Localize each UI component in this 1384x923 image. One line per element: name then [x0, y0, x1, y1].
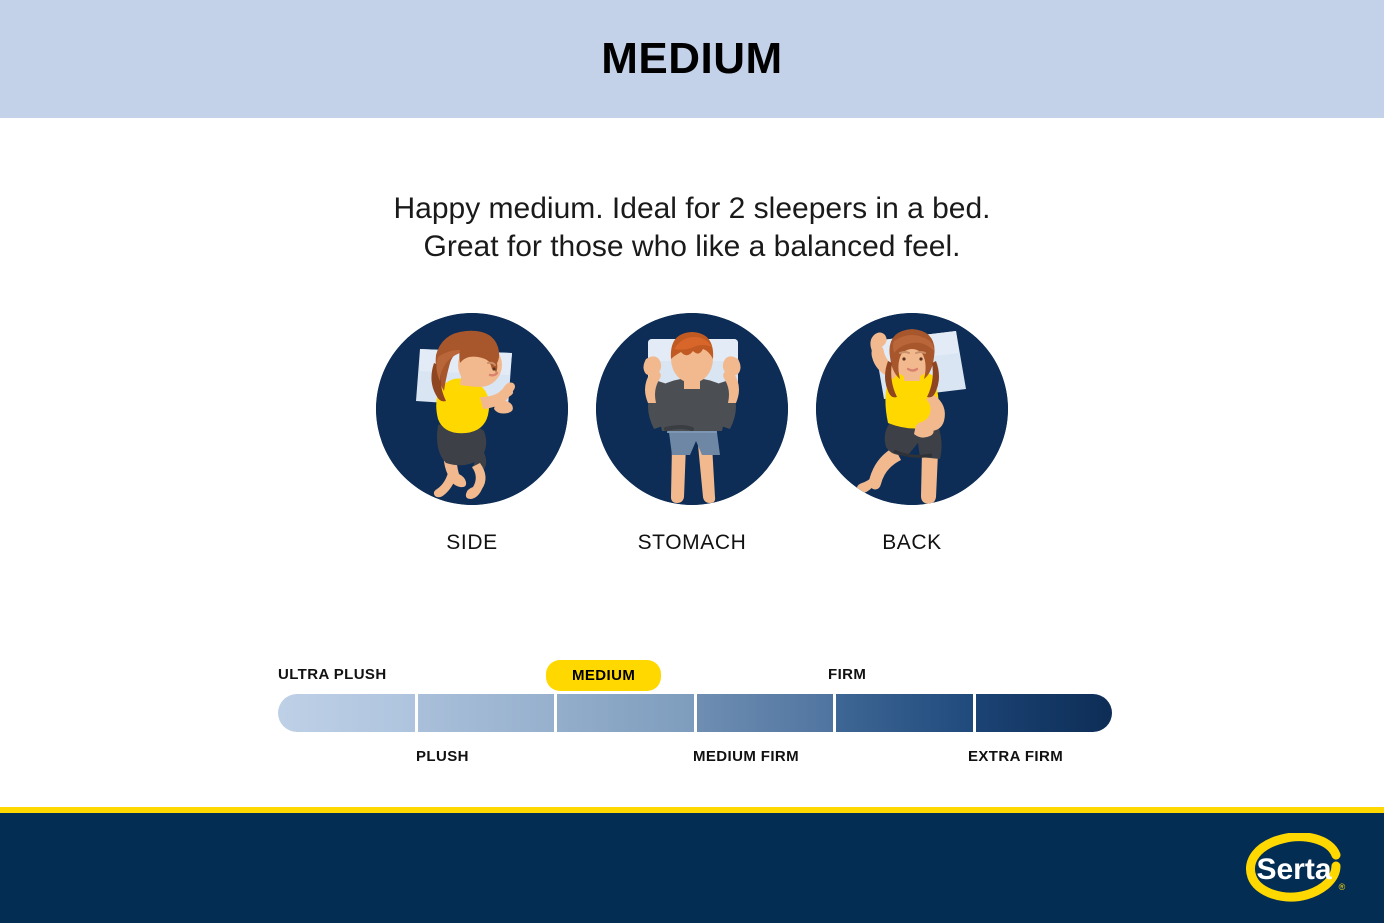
- header-band: MEDIUM: [0, 0, 1384, 118]
- sleeper-card-side: SIDE: [376, 313, 568, 555]
- firmness-segment-firm[interactable]: [836, 694, 973, 732]
- sleeper-label-back: BACK: [882, 531, 942, 555]
- sleeper-card-stomach: STOMACH: [596, 313, 788, 555]
- subtitle-line-1: Happy medium. Ideal for 2 sleepers in a …: [0, 190, 1384, 228]
- footer-bar: [0, 813, 1384, 923]
- subtitle-line-2: Great for those who like a balanced feel…: [0, 228, 1384, 266]
- firmness-bar[interactable]: [278, 694, 1112, 732]
- firmness-segment-medium[interactable]: [557, 694, 694, 732]
- firmness-segment-ultra-plush[interactable]: [278, 694, 415, 732]
- firmness-scale: ULTRA PLUSH MEDIUM FIRM PLUSH MEDIUM FIR…: [278, 660, 1112, 772]
- serta-trademark-icon: ®: [1339, 882, 1346, 892]
- sleeper-positions-group: SIDE: [0, 313, 1384, 555]
- firmness-label-extra-firm[interactable]: EXTRA FIRM: [968, 748, 1063, 765]
- side-sleeper-illustration: [376, 313, 568, 505]
- serta-logo-wordmark: Serta: [1256, 853, 1331, 886]
- subtitle-text: Happy medium. Ideal for 2 sleepers in a …: [0, 190, 1384, 266]
- slide-root: MEDIUM Happy medium. Ideal for 2 sleeper…: [0, 0, 1384, 923]
- firmness-segment-plush[interactable]: [418, 694, 555, 732]
- sleeper-label-stomach: STOMACH: [638, 531, 747, 555]
- stomach-sleeper-illustration: [596, 313, 788, 505]
- firmness-segment-medium-firm[interactable]: [697, 694, 834, 732]
- back-sleeper-illustration: [816, 313, 1008, 505]
- serta-logo[interactable]: Serta ®: [1244, 833, 1356, 905]
- firmness-label-plush[interactable]: PLUSH: [416, 748, 469, 765]
- sleeper-label-side: SIDE: [446, 531, 497, 555]
- sleeper-card-back: BACK: [816, 313, 1008, 555]
- firmness-segment-extra-firm[interactable]: [976, 694, 1113, 732]
- firmness-label-medium-selected[interactable]: MEDIUM: [546, 660, 661, 691]
- firmness-label-ultra-plush[interactable]: ULTRA PLUSH: [278, 666, 387, 683]
- firmness-label-firm[interactable]: FIRM: [828, 666, 866, 683]
- page-title: MEDIUM: [601, 34, 782, 84]
- firmness-labels-bottom: PLUSH MEDIUM FIRM EXTRA FIRM: [278, 742, 1112, 772]
- firmness-labels-top: ULTRA PLUSH MEDIUM FIRM: [278, 660, 1112, 694]
- firmness-label-medium-firm[interactable]: MEDIUM FIRM: [693, 748, 799, 765]
